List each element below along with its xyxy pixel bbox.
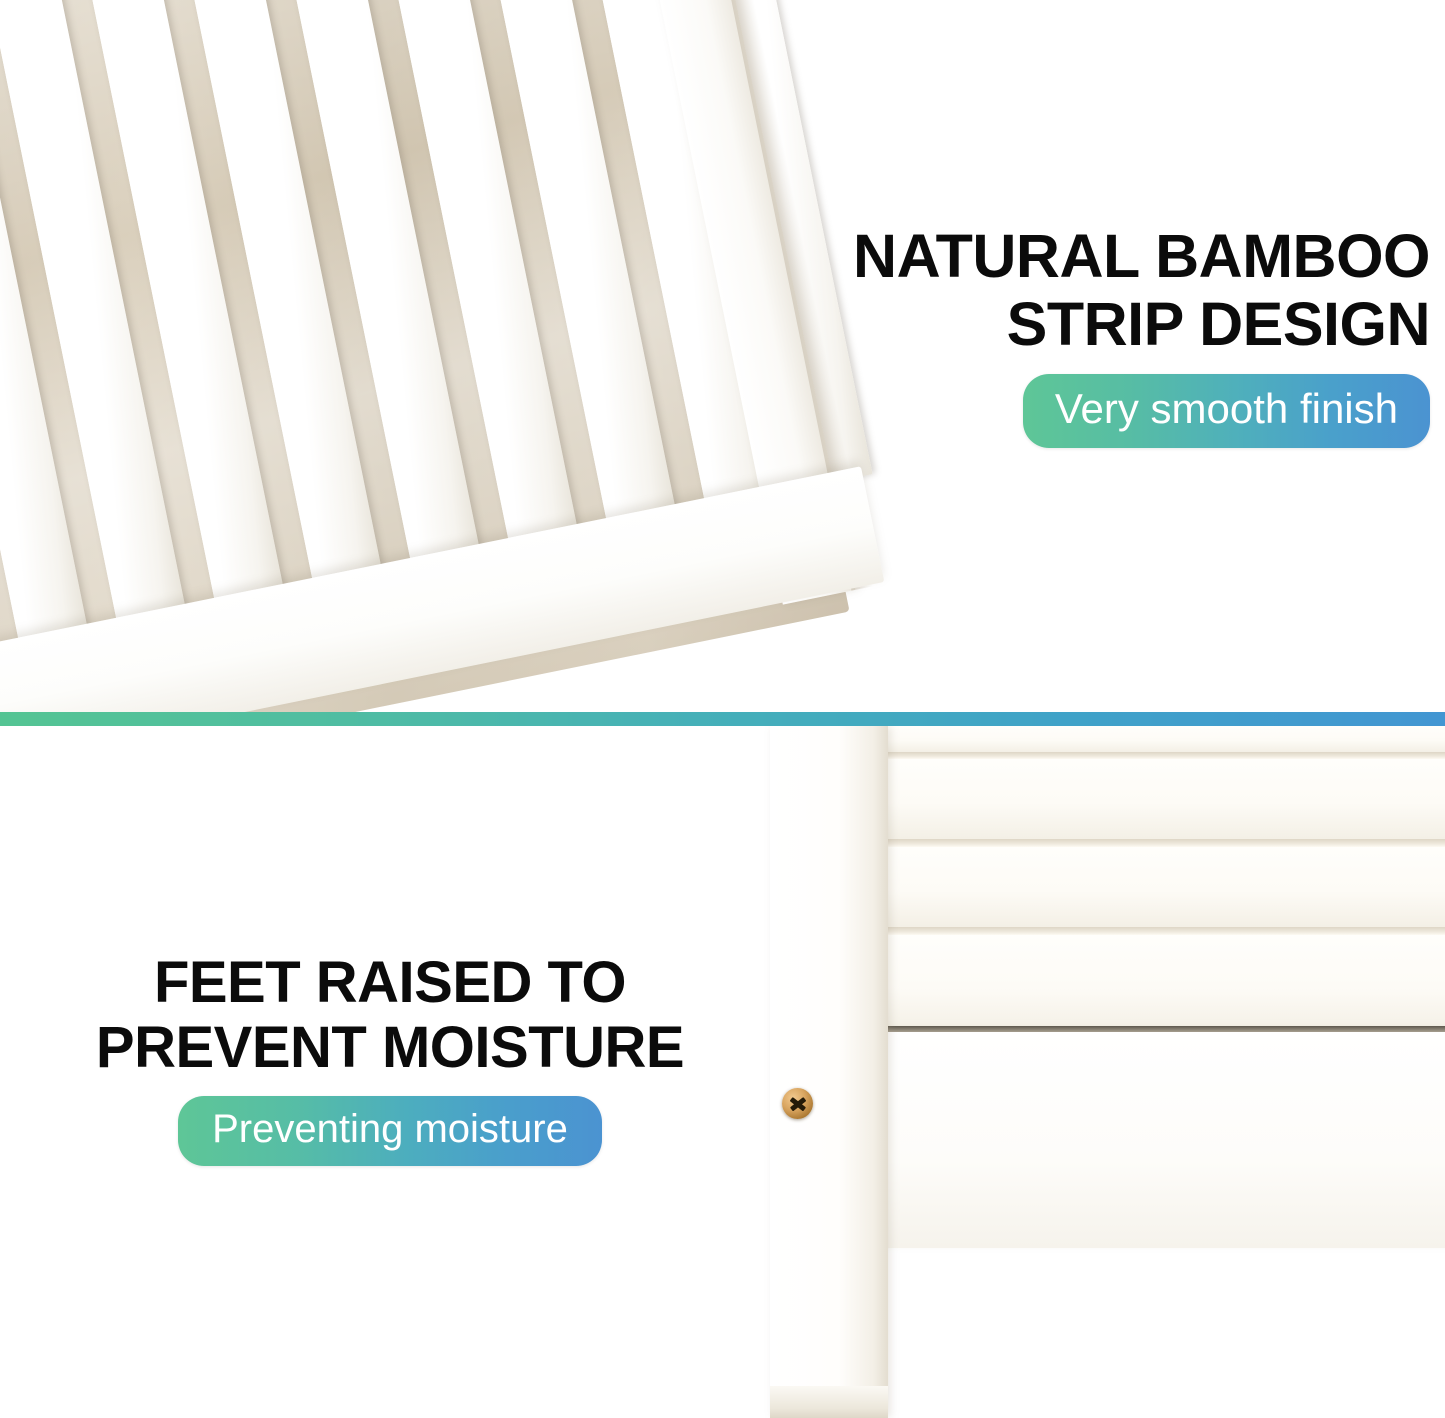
gradient-divider-bar [0,712,1445,726]
feature-panel-top: NATURAL BAMBOO STRIP DESIGN Very smooth … [0,0,1445,712]
shelf-slat-gap [820,752,1445,759]
feature-panel-bottom: FEET RAISED TO PREVENT MOISTURE Preventi… [0,726,1445,1418]
shelf-lower-rail [818,1032,1445,1248]
top-copy-block: NATURAL BAMBOO STRIP DESIGN Very smooth … [790,222,1430,448]
shelf-slat [820,847,1445,927]
top-headline-line-1: NATURAL BAMBOO [790,222,1430,290]
brass-screw-icon [782,1088,813,1119]
shelf-slat [820,759,1445,839]
product-feature-infographic: NATURAL BAMBOO STRIP DESIGN Very smooth … [0,0,1445,1418]
top-feature-badge: Very smooth finish [1023,374,1430,448]
bottom-copy-block: FEET RAISED TO PREVENT MOISTURE Preventi… [40,950,740,1166]
shelf-slat [820,726,1445,752]
bamboo-slat-panel-photo [0,0,910,712]
bottom-headline-line-2: PREVENT MOISTURE [40,1015,740,1080]
shelf-raised-foot [770,1386,888,1418]
bottom-feature-badge: Preventing moisture [178,1096,602,1166]
shelf-leg-post [770,726,888,1418]
shelf-leg-photo [700,726,1445,1418]
top-headline-line-2: STRIP DESIGN [790,290,1430,358]
bamboo-board [0,0,910,712]
bottom-headline-line-1: FEET RAISED TO [40,950,740,1015]
shelf-slat-gap [820,839,1445,847]
shelf-slat [820,935,1445,1032]
shelf-slat-gap [820,927,1445,935]
